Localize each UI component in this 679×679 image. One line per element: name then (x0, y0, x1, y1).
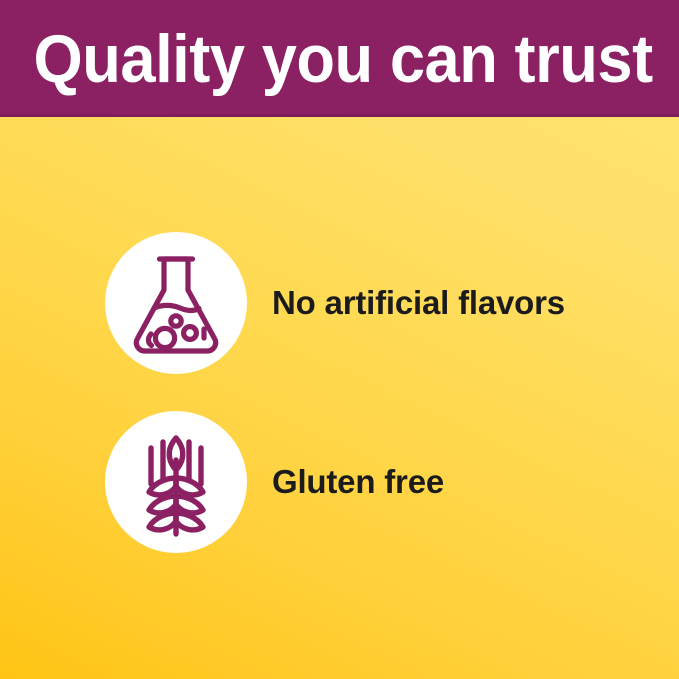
list-item: No artificial flavors (0, 228, 679, 378)
quality-claims-poster: Quality you can trust (0, 0, 679, 679)
flask-icon (128, 250, 224, 356)
icon-badge (105, 411, 247, 553)
list-item: Gluten free (0, 407, 679, 557)
icon-badge (105, 232, 247, 374)
header-banner: Quality you can trust (0, 0, 679, 117)
wheat-icon (133, 426, 219, 538)
feature-label: No artificial flavors (272, 284, 565, 322)
page-title: Quality you can trust (0, 25, 653, 93)
feature-label: Gluten free (272, 463, 444, 501)
